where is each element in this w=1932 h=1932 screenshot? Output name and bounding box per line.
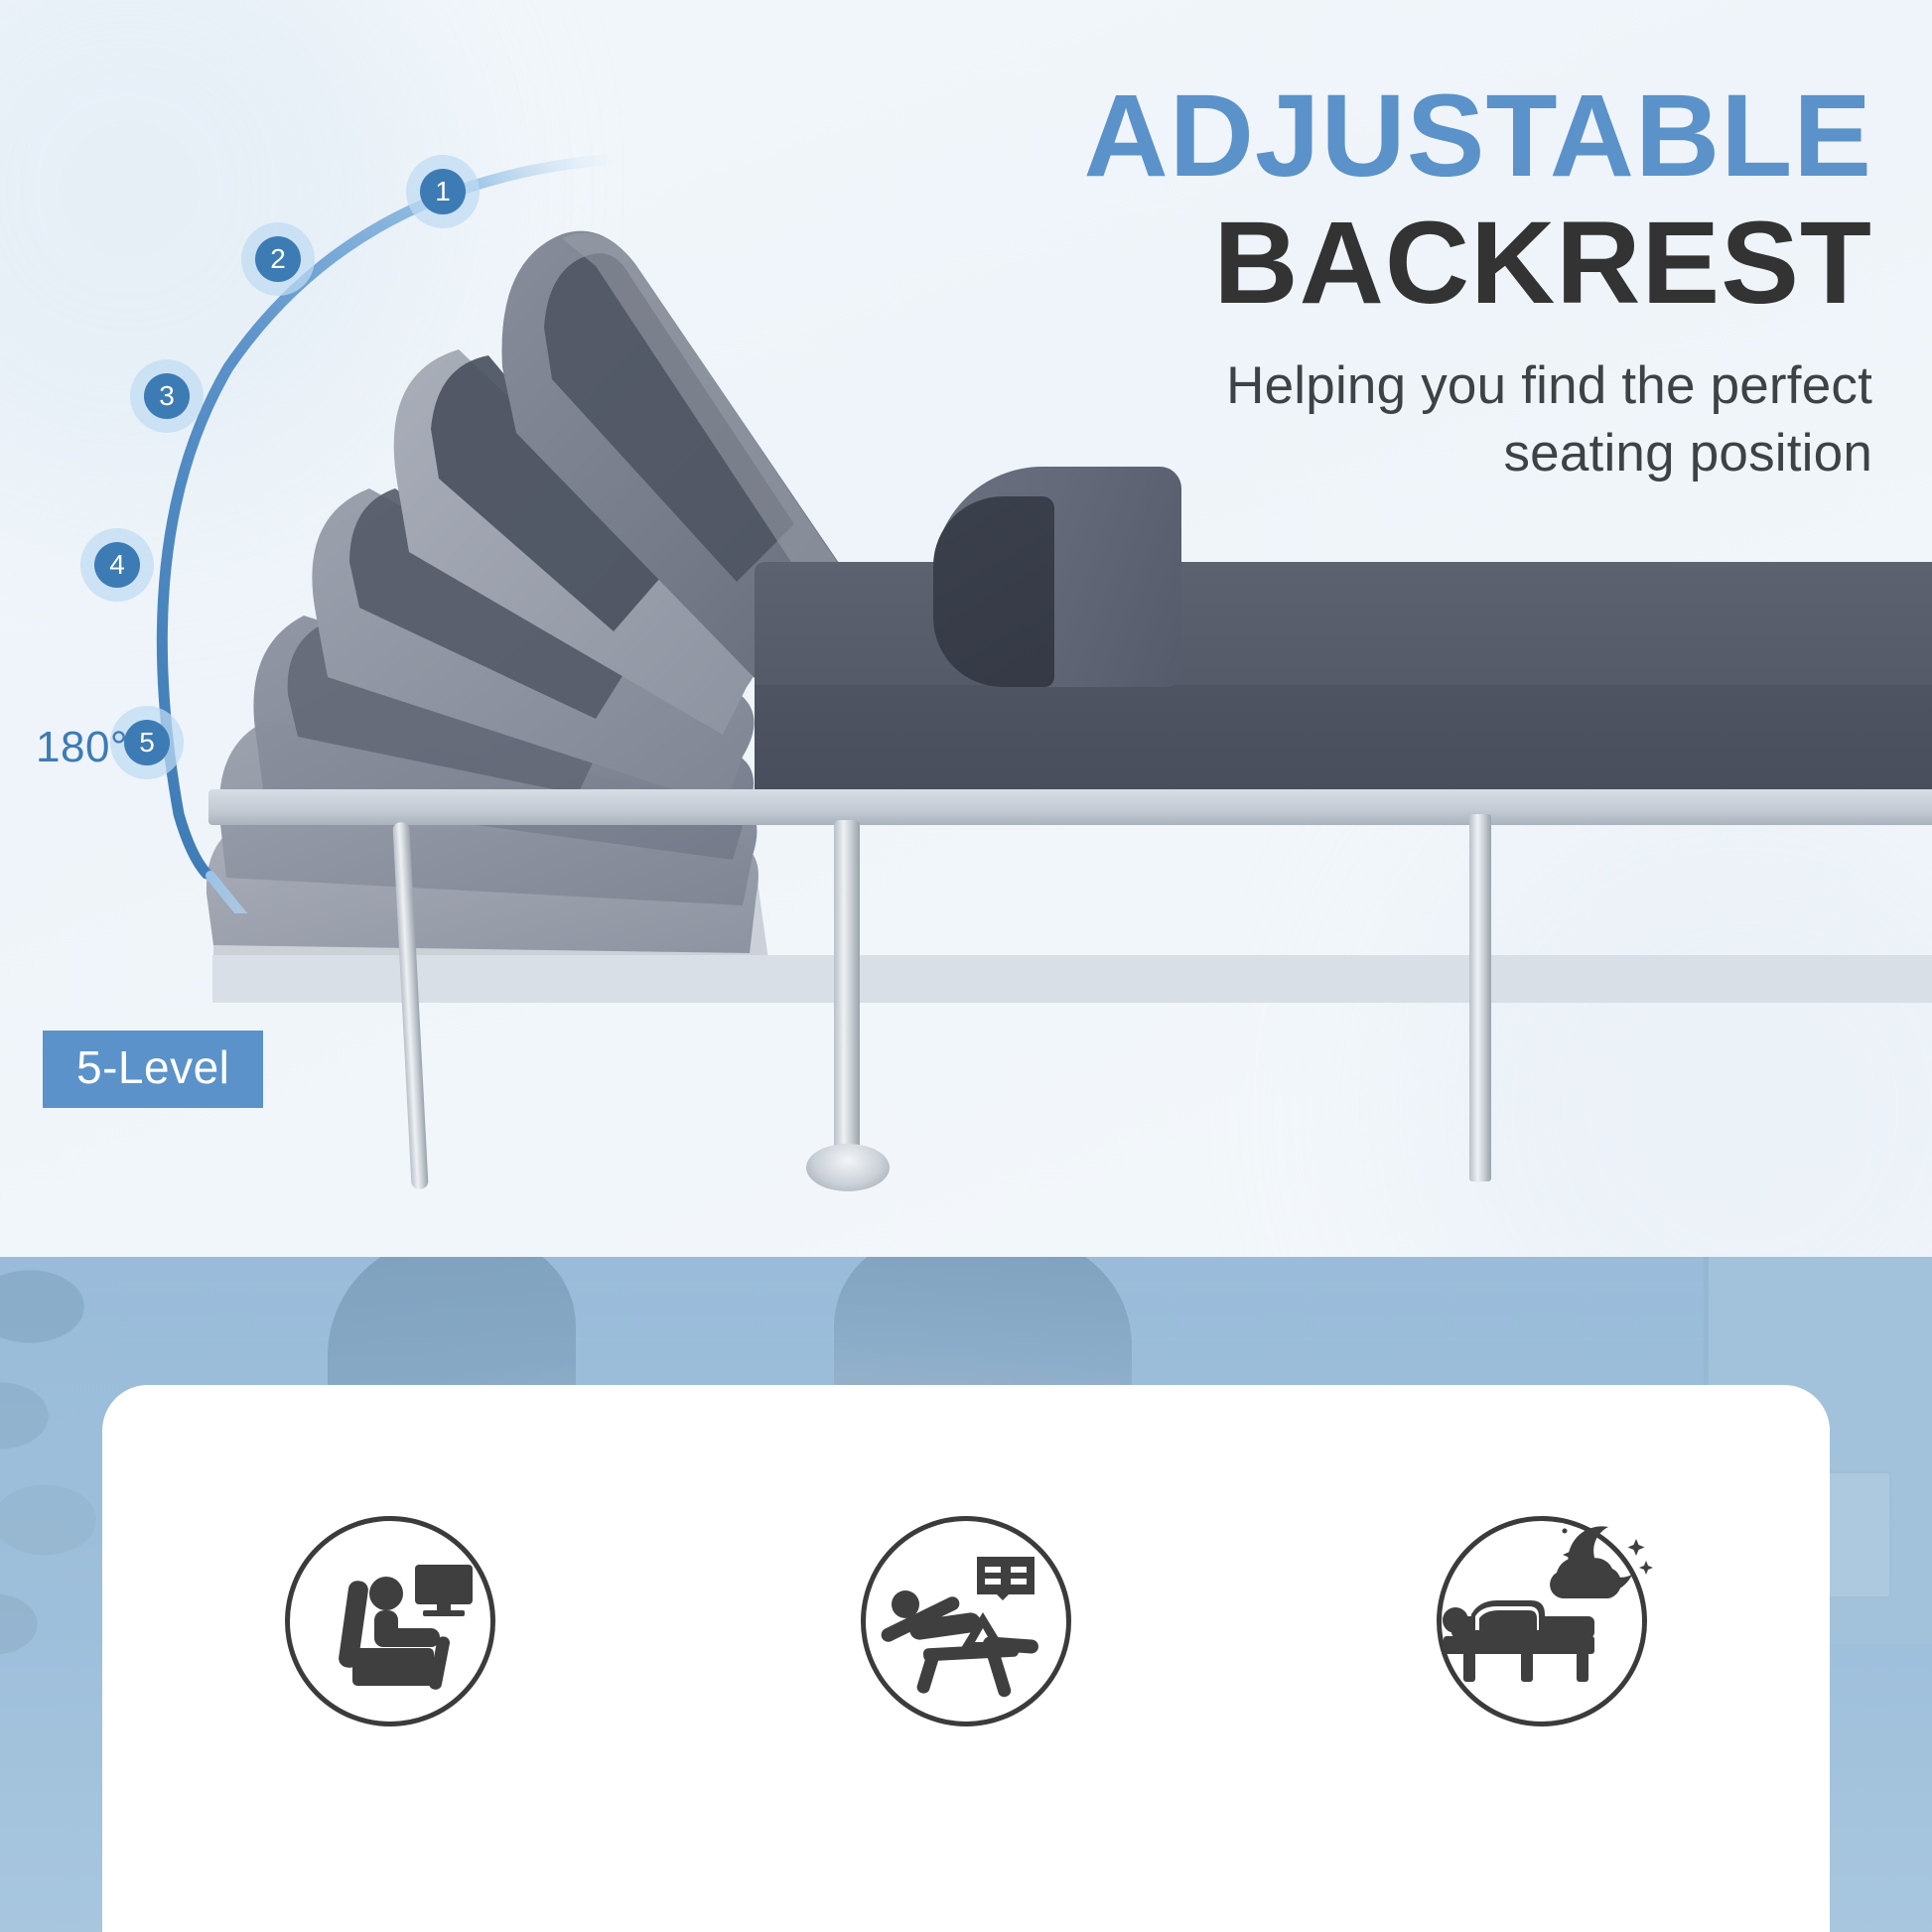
usage-icons-row	[102, 1516, 1830, 1726]
bolster-pillow-end-cap	[933, 496, 1054, 687]
headline-line-adjustable: ADJUSTABLE	[701, 77, 1872, 195]
watching-tv-upright-seat-icon	[285, 1516, 495, 1726]
chrome-leg-right	[1469, 814, 1491, 1181]
headline-subtitle: Helping you find the perfect seating pos…	[701, 352, 1872, 487]
headline-block: ADJUSTABLE BACKREST Helping you find the…	[701, 77, 1872, 487]
recline-angle-arc	[60, 119, 616, 913]
level-marker-1-label: 1	[420, 169, 466, 214]
usage-mode-recline-read[interactable]	[807, 1516, 1125, 1726]
subtitle-line-2: seating position	[701, 420, 1872, 487]
product-feature-panel: 1 2 3 4 5 180° 5-Level ADJUSTABLE BACKRE…	[0, 0, 1932, 1257]
chrome-leg-foot	[806, 1144, 890, 1191]
level-marker-2[interactable]: 2	[241, 222, 315, 296]
level-marker-2-label: 2	[255, 236, 301, 282]
level-marker-5-label: 5	[124, 720, 170, 765]
level-marker-1[interactable]: 1	[406, 155, 480, 228]
level-marker-4-label: 4	[94, 542, 140, 588]
usage-modes-card	[102, 1385, 1830, 1932]
chrome-leg-center	[834, 820, 860, 1160]
level-marker-3-label: 3	[144, 373, 190, 419]
reclining-reading-book-icon	[861, 1516, 1071, 1726]
usage-mode-sleep-flat[interactable]	[1383, 1516, 1701, 1726]
level-marker-4[interactable]: 4	[80, 528, 154, 602]
level-marker-3[interactable]: 3	[130, 359, 204, 433]
angle-label-180: 180°	[36, 723, 128, 772]
subtitle-line-1: Helping you find the perfect	[701, 352, 1872, 420]
usage-mode-watch-tv[interactable]	[231, 1516, 549, 1726]
headline-line-backrest: BACKREST	[701, 201, 1872, 327]
five-level-badge: 5-Level	[43, 1031, 263, 1108]
lying-flat-sleeping-bed-icon	[1437, 1516, 1647, 1726]
